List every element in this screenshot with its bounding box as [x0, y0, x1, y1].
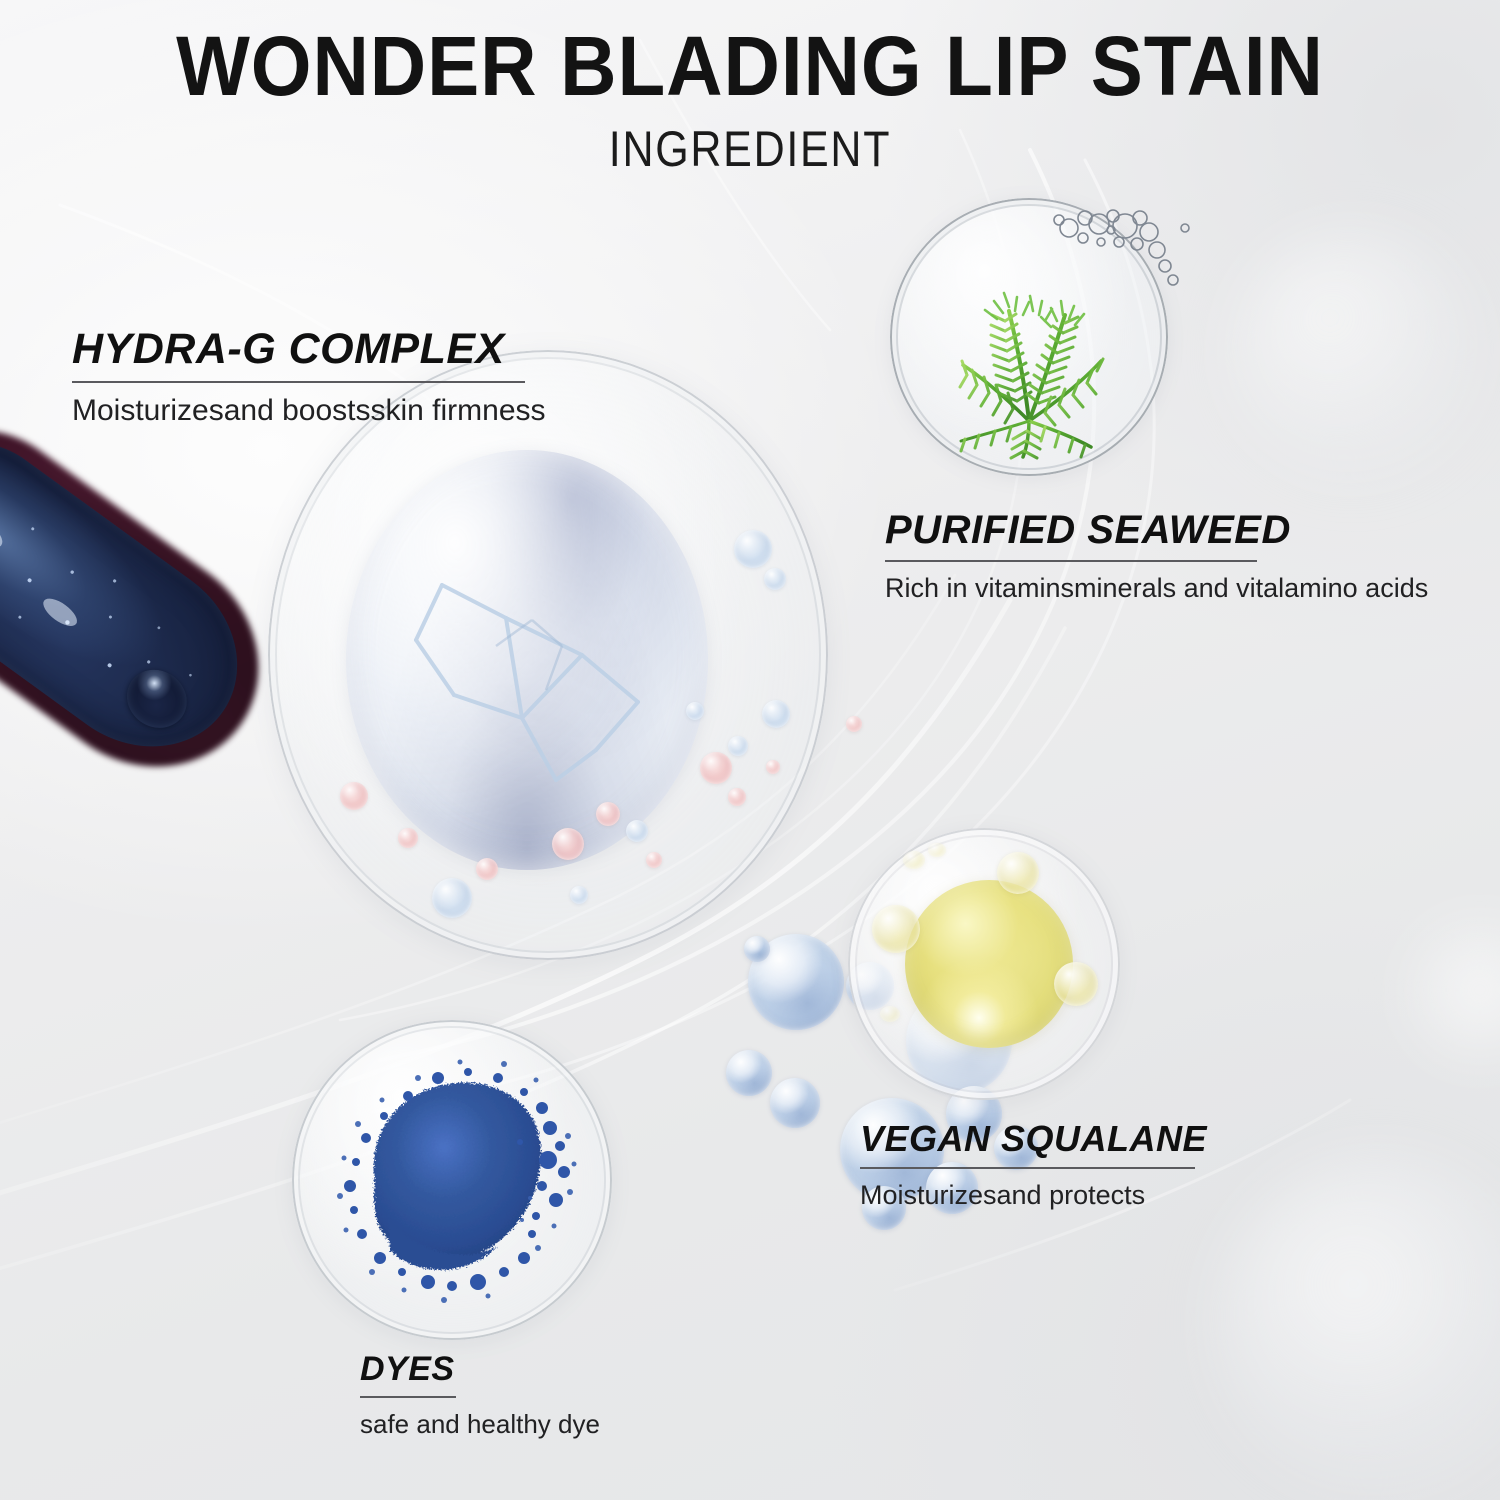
- pink-droplet: [646, 852, 662, 868]
- water-droplet: [762, 700, 790, 728]
- ingredient-description: Moisturizesand boostsskin firmness: [72, 394, 546, 428]
- ingredient-name: DYES: [360, 1350, 600, 1389]
- ingredient-label-dyes: DYES safe and healthy dye: [360, 1350, 600, 1440]
- ingredient-description: safe and healthy dye: [360, 1409, 600, 1440]
- bubble-cluster-icon: [1045, 198, 1195, 308]
- label-divider: [72, 381, 525, 383]
- ingredient-description: Rich in vitaminsminerals and vitalamino …: [885, 573, 1428, 604]
- oil-bubble: [928, 843, 946, 857]
- pink-droplet: [766, 760, 780, 774]
- pink-droplet: [552, 828, 584, 860]
- oil-bubble: [903, 851, 925, 869]
- oil-droplet: [905, 880, 1073, 1048]
- page-title: WONDER BLADING LIP STAIN: [53, 18, 1448, 115]
- page-subtitle: INGREDIENT: [105, 120, 1395, 178]
- oil-bubble: [997, 852, 1039, 894]
- blue-pigment-powder: [292, 1020, 612, 1340]
- water-droplet: [764, 568, 786, 590]
- pink-droplet: [398, 828, 418, 848]
- ingredient-description: Moisturizesand protects: [860, 1180, 1207, 1211]
- pink-droplet: [728, 788, 746, 806]
- ingredient-label-seaweed: PURIFIED SEAWEED Rich in vitaminsmineral…: [885, 508, 1428, 604]
- label-divider: [360, 1396, 456, 1398]
- oil-bubble: [1054, 962, 1098, 1006]
- pink-droplet: [476, 858, 498, 880]
- ingredient-label-squalane: VEGAN SQUALANE Moisturizesand protects: [860, 1118, 1207, 1211]
- ingredient-name: HYDRA-G COMPLEX: [72, 325, 546, 374]
- label-divider: [885, 560, 1257, 562]
- ingredient-name: VEGAN SQUALANE: [860, 1118, 1207, 1160]
- pink-droplet: [846, 716, 862, 732]
- water-droplet: [626, 820, 648, 842]
- molecule-bond-lines: [346, 450, 708, 870]
- label-divider: [860, 1167, 1195, 1169]
- infographic-canvas: WONDER BLADING LIP STAIN INGREDIENT: [0, 0, 1500, 1500]
- water-droplet: [686, 702, 704, 720]
- water-droplet: [728, 736, 748, 756]
- ingredient-name: PURIFIED SEAWEED: [885, 508, 1428, 553]
- pink-droplet: [596, 802, 620, 826]
- oil-bubble: [880, 1006, 900, 1022]
- pink-droplet: [700, 752, 732, 784]
- oil-bubble: [872, 905, 920, 953]
- water-droplet: [570, 886, 588, 904]
- pink-droplet: [340, 782, 368, 810]
- water-droplet: [432, 878, 472, 918]
- water-droplet: [734, 530, 772, 568]
- ingredient-label-hydra: HYDRA-G COMPLEX Moisturizesand boostsski…: [72, 325, 546, 428]
